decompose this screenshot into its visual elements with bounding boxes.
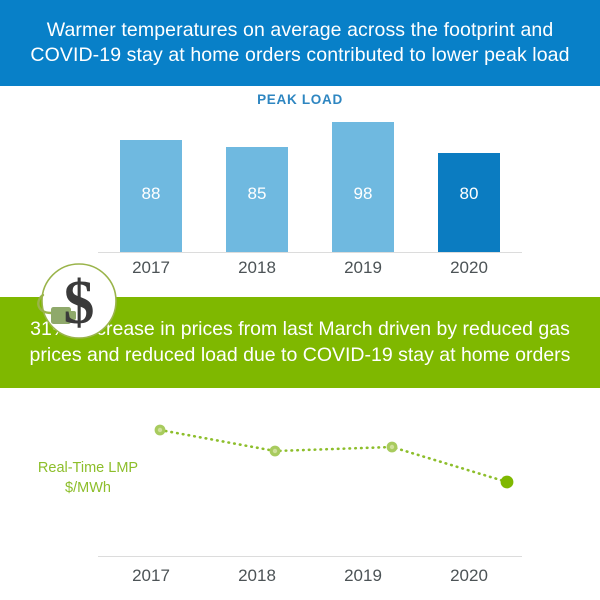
bar-slot-2017: 88 bbox=[98, 116, 204, 252]
svg-text:$: $ bbox=[64, 269, 95, 337]
lmp-axis-label-line2: $/MWh bbox=[18, 478, 158, 498]
peak-load-bar-chart: PEAK LOAD 88 85 98 80 bbox=[0, 86, 600, 283]
bar-slot-2020: 80 bbox=[416, 116, 522, 252]
x-label-2018: 2018 bbox=[204, 258, 310, 278]
bar-slot-2018: 85 bbox=[204, 116, 310, 252]
x-label-bottom-2019: 2019 bbox=[310, 566, 416, 586]
bar-chart-x-axis-labels: 2017 2018 2019 2020 bbox=[98, 258, 522, 284]
x-label-bottom-2020: 2020 bbox=[416, 566, 522, 586]
line-chart-x-axis-labels: 2017 2018 2019 2020 bbox=[98, 566, 522, 594]
line-chart-baseline bbox=[98, 556, 522, 557]
bar-2017[interactable]: 88 bbox=[120, 140, 182, 252]
headline-banner-peak-load: Warmer temperatures on average across th… bbox=[0, 0, 600, 86]
bar-2019[interactable]: 98 bbox=[332, 122, 394, 252]
headline-banner-text: Warmer temperatures on average across th… bbox=[0, 18, 600, 69]
bar-value-2019: 98 bbox=[332, 184, 394, 204]
bar-value-2018: 85 bbox=[226, 184, 288, 204]
lmp-axis-label-line1: Real-Time LMP bbox=[18, 458, 158, 478]
x-label-2019: 2019 bbox=[310, 258, 416, 278]
chart-title-peak-load: PEAK LOAD bbox=[0, 92, 600, 107]
dollar-plug-icon: $ bbox=[29, 261, 121, 353]
x-label-bottom-2017: 2017 bbox=[98, 566, 204, 586]
lmp-axis-label: Real-Time LMP $/MWh bbox=[18, 458, 158, 498]
x-label-2020: 2020 bbox=[416, 258, 522, 278]
lmp-point-2020 bbox=[501, 476, 514, 489]
bar-chart-baseline bbox=[98, 252, 522, 253]
infographic-root: Warmer temperatures on average across th… bbox=[0, 0, 600, 600]
x-label-bottom-2018: 2018 bbox=[204, 566, 310, 586]
bar-value-2017: 88 bbox=[120, 184, 182, 204]
bar-chart-plot-area: 88 85 98 80 bbox=[98, 116, 522, 252]
bar-2020[interactable]: 80 bbox=[438, 153, 500, 252]
bar-value-2020: 80 bbox=[438, 184, 500, 204]
bar-2018[interactable]: 85 bbox=[226, 147, 288, 252]
bar-slot-2019: 98 bbox=[310, 116, 416, 252]
